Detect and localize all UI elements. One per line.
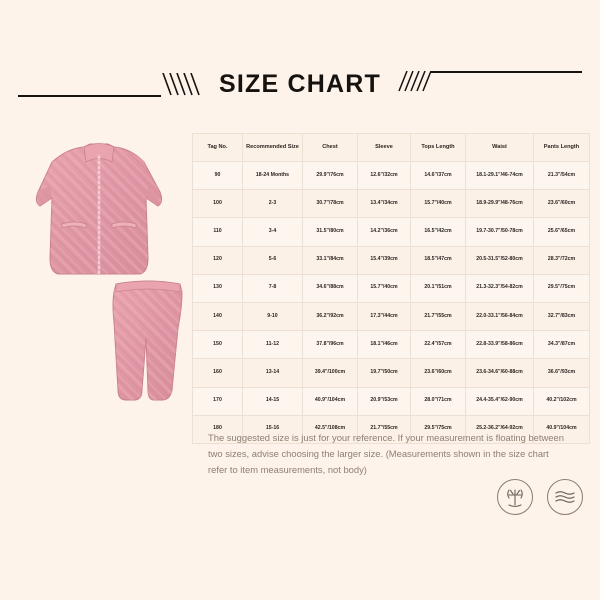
table-row: 160 13-14 39.4"/100cm 19.7"/50cm 23.6"/6… <box>193 359 590 387</box>
cell-tops-length: 21.7"/55cm <box>411 302 466 330</box>
table-row: 100 2-3 30.7"/78cm 13.4"/34cm 15.7"/40cm… <box>193 190 590 218</box>
size-chart-table: Tag No. Recommended Size Chest Sleeve To… <box>192 133 590 444</box>
page-title: SIZE CHART <box>203 70 397 99</box>
cell-recommended-size: 13-14 <box>243 359 303 387</box>
cell-sleeve: 18.1"/46cm <box>358 331 411 359</box>
cell-chest: 30.7"/78cm <box>303 190 358 218</box>
column-header-tops-length: Tops Length <box>411 134 466 162</box>
cell-waist: 21.3-32.3"/54-82cm <box>466 274 534 302</box>
cell-pants-length: 29.5"/75cm <box>534 274 590 302</box>
cell-waist: 18.9-29.9"/48-76cm <box>466 190 534 218</box>
cell-tag-no: 160 <box>193 359 243 387</box>
cell-recommended-size: 11-12 <box>243 331 303 359</box>
cell-sleeve: 12.6"/32cm <box>358 162 411 190</box>
table-row: 90 18-24 Months 29.9"/76cm 12.6"/32cm 14… <box>193 162 590 190</box>
cell-sleeve: 15.4"/39cm <box>358 246 411 274</box>
cell-tag-no: 100 <box>193 190 243 218</box>
cell-chest: 29.9"/76cm <box>303 162 358 190</box>
cell-chest: 40.9"/104cm <box>303 387 358 415</box>
cell-pants-length: 40.2"/102cm <box>534 387 590 415</box>
cell-chest: 36.2"/92cm <box>303 302 358 330</box>
table-row: 150 11-12 37.8"/96cm 18.1"/46cm 22.4"/57… <box>193 331 590 359</box>
rule-right <box>397 71 600 97</box>
cell-recommended-size: 18-24 Months <box>243 162 303 190</box>
cell-recommended-size: 5-6 <box>243 246 303 274</box>
cell-tag-no: 170 <box>193 387 243 415</box>
table-row: 120 5-6 33.1"/84cm 15.4"/39cm 18.5"/47cm… <box>193 246 590 274</box>
cell-tops-length: 22.4"/57cm <box>411 331 466 359</box>
diagonal-hatch-icon-right <box>397 71 431 93</box>
cell-tag-no: 150 <box>193 331 243 359</box>
cell-pants-length: 36.6"/93cm <box>534 359 590 387</box>
cell-chest: 37.8"/96cm <box>303 331 358 359</box>
cell-tops-length: 14.6"/37cm <box>411 162 466 190</box>
cell-chest: 39.4"/100cm <box>303 359 358 387</box>
column-header-pants-length: Pants Length <box>534 134 590 162</box>
cell-tops-length: 28.0"/71cm <box>411 387 466 415</box>
cell-waist: 19.7-30.7"/50-78cm <box>466 218 534 246</box>
cell-chest: 33.1"/84cm <box>303 246 358 274</box>
cell-pants-length: 23.6"/60cm <box>534 190 590 218</box>
cell-tops-length: 20.1"/51cm <box>411 274 466 302</box>
cell-sleeve: 13.4"/34cm <box>358 190 411 218</box>
cell-recommended-size: 3-4 <box>243 218 303 246</box>
cell-chest: 31.5"/80cm <box>303 218 358 246</box>
table-row: 130 7-8 34.6"/88cm 15.7"/40cm 20.1"/51cm… <box>193 274 590 302</box>
cell-tag-no: 140 <box>193 302 243 330</box>
cell-pants-length: 32.7"/83cm <box>534 302 590 330</box>
cell-waist: 18.1-29.1"/46-74cm <box>466 162 534 190</box>
table-row: 170 14-15 40.9"/104cm 20.9"/53cm 28.0"/7… <box>193 387 590 415</box>
cell-recommended-size: 9-10 <box>243 302 303 330</box>
header-rule-right-group <box>397 62 600 106</box>
cell-pants-length: 28.3"/72cm <box>534 246 590 274</box>
cell-tops-length: 23.6"/60cm <box>411 359 466 387</box>
header-line-right <box>431 71 582 73</box>
feature-badges <box>496 478 584 516</box>
cell-pants-length: 34.3"/87cm <box>534 331 590 359</box>
soft-wave-icon <box>546 478 584 516</box>
cell-tops-length: 18.5"/47cm <box>411 246 466 274</box>
cell-pants-length: 25.6"/65cm <box>534 218 590 246</box>
cell-sleeve: 14.2"/36cm <box>358 218 411 246</box>
cell-sleeve: 15.7"/40cm <box>358 274 411 302</box>
product-image <box>12 132 188 422</box>
cell-waist: 22.8-33.9"/58-86cm <box>466 331 534 359</box>
cell-sleeve: 20.9"/53cm <box>358 387 411 415</box>
header-line-left <box>18 95 161 97</box>
cell-recommended-size: 7-8 <box>243 274 303 302</box>
table-row: 140 9-10 36.2"/92cm 17.3"/44cm 21.7"/55c… <box>193 302 590 330</box>
cell-recommended-size: 2-3 <box>243 190 303 218</box>
cell-tag-no: 110 <box>193 218 243 246</box>
jacket-graphic <box>36 144 161 275</box>
cell-waist: 22.0-33.1"/56-84cm <box>466 302 534 330</box>
column-header-sleeve: Sleeve <box>358 134 411 162</box>
cell-sleeve: 19.7"/50cm <box>358 359 411 387</box>
pants-graphic <box>113 281 182 400</box>
rule-left <box>0 71 203 97</box>
cell-waist: 20.5-31.5"/52-80cm <box>466 246 534 274</box>
cell-tag-no: 120 <box>193 246 243 274</box>
cell-tag-no: 130 <box>193 274 243 302</box>
column-header-tag-no: Tag No. <box>193 134 243 162</box>
column-header-chest: Chest <box>303 134 358 162</box>
diagonal-hatch-icon-left <box>161 73 203 97</box>
table-header-row: Tag No. Recommended Size Chest Sleeve To… <box>193 134 590 162</box>
cell-chest: 34.6"/88cm <box>303 274 358 302</box>
page-header: SIZE CHART <box>0 62 600 106</box>
header-rule-left-group <box>0 62 203 106</box>
column-header-waist: Waist <box>466 134 534 162</box>
table-body: 90 18-24 Months 29.9"/76cm 12.6"/32cm 14… <box>193 162 590 444</box>
cell-tag-no: 90 <box>193 162 243 190</box>
cell-sleeve: 17.3"/44cm <box>358 302 411 330</box>
cell-tops-length: 15.7"/40cm <box>411 190 466 218</box>
size-chart-table-wrap: Tag No. Recommended Size Chest Sleeve To… <box>192 133 589 444</box>
cell-recommended-size: 14-15 <box>243 387 303 415</box>
cell-tops-length: 16.5"/42cm <box>411 218 466 246</box>
cell-waist: 24.4-35.4"/62-90cm <box>466 387 534 415</box>
breathable-fabric-icon <box>496 478 534 516</box>
table-row: 110 3-4 31.5"/80cm 14.2"/36cm 16.5"/42cm… <box>193 218 590 246</box>
column-header-recommended-size: Recommended Size <box>243 134 303 162</box>
cell-waist: 23.6-34.6"/60-88cm <box>466 359 534 387</box>
cell-pants-length: 21.3"/54cm <box>534 162 590 190</box>
size-note-text: The suggested size is just for your refe… <box>208 430 564 479</box>
